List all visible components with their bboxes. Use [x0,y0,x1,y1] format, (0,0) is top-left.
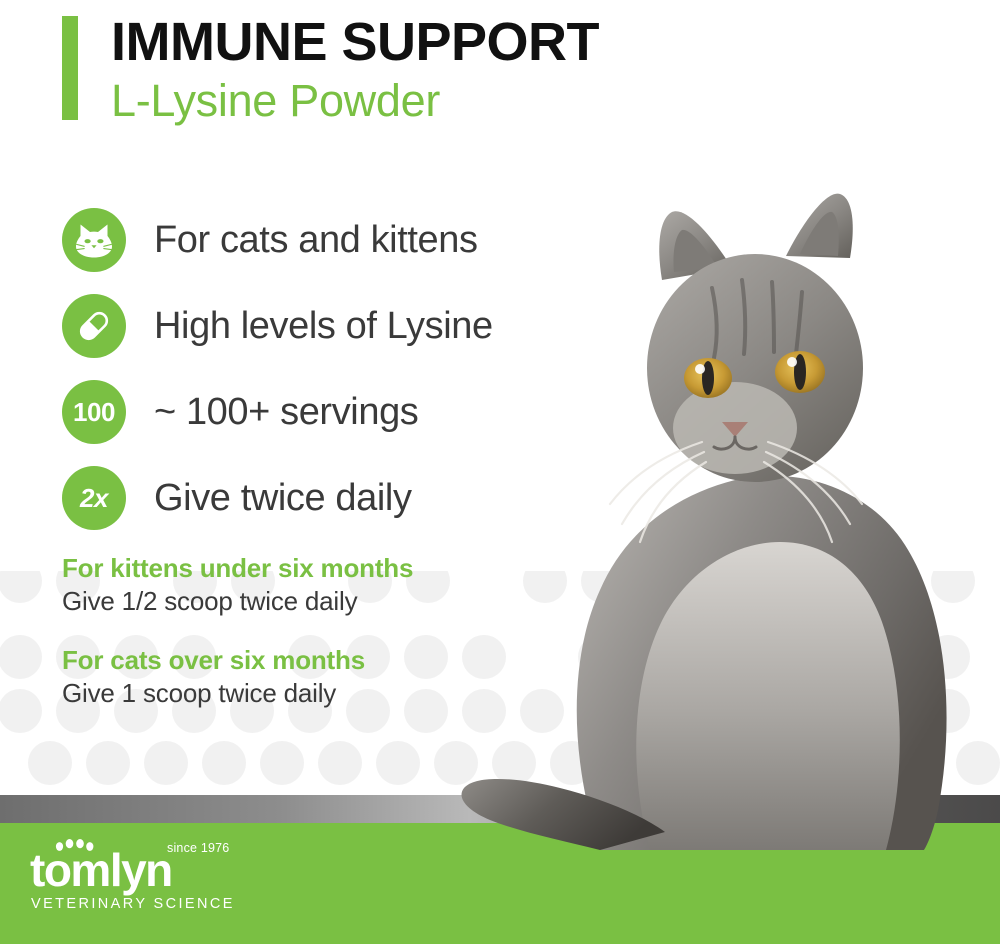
cat-eye-left [684,358,732,398]
brand-tagline: VETERINARY SCIENCE [31,896,235,912]
dosing-heading: For cats over six months [62,644,413,676]
feature-row: High levels of Lysine [62,283,493,369]
dosing-group-cats: For cats over six months Give 1 scoop tw… [62,644,413,710]
feature-label: For cats and kittens [154,220,478,260]
header-text-group: IMMUNE SUPPORT L-Lysine Powder [111,14,599,128]
brand-wordmark: tomlyn [30,844,172,896]
feature-list: For cats and kittens High levels of Lysi… [62,197,493,541]
cat-body [577,476,947,850]
brand-logo: tomlyn since 1976 VETERINARY SCIENCE [30,834,270,916]
capsule-icon [73,305,115,347]
page-subtitle: L-Lysine Powder [111,74,599,128]
feature-row: For cats and kittens [62,197,493,283]
product-info-card: IMMUNE SUPPORT L-Lysine Powder [0,0,1000,944]
feature-badge-cats [62,208,126,272]
feature-label: Give twice daily [154,478,412,518]
dosing-heading: For kittens under six months [62,552,413,584]
cat-head [610,194,863,542]
dosing-group-kittens: For kittens under six months Give 1/2 sc… [62,552,413,618]
cat-face-icon [73,221,115,259]
feature-badge-lysine [62,294,126,358]
dosing-detail: Give 1/2 scoop twice daily [62,584,413,618]
gray-divider-band [0,795,1000,823]
dosing-instructions: For kittens under six months Give 1/2 sc… [62,552,413,710]
frequency-icon: 2x [80,485,108,511]
brand-since: since 1976 [167,841,229,855]
feature-row: 2x Give twice daily [62,455,493,541]
dosing-detail: Give 1 scoop twice daily [62,676,413,710]
product-header: IMMUNE SUPPORT L-Lysine Powder [62,14,599,128]
feature-badge-frequency: 2x [62,466,126,530]
feature-label: ~ 100+ servings [154,392,418,432]
feature-label: High levels of Lysine [154,306,493,346]
cat-eye-right [775,351,825,393]
servings-icon: 100 [73,399,115,425]
feature-row: 100 ~ 100+ servings [62,369,493,455]
header-accent-bar [62,16,78,120]
page-title: IMMUNE SUPPORT [111,14,599,70]
cat-photo [450,160,1000,860]
feature-badge-servings: 100 [62,380,126,444]
